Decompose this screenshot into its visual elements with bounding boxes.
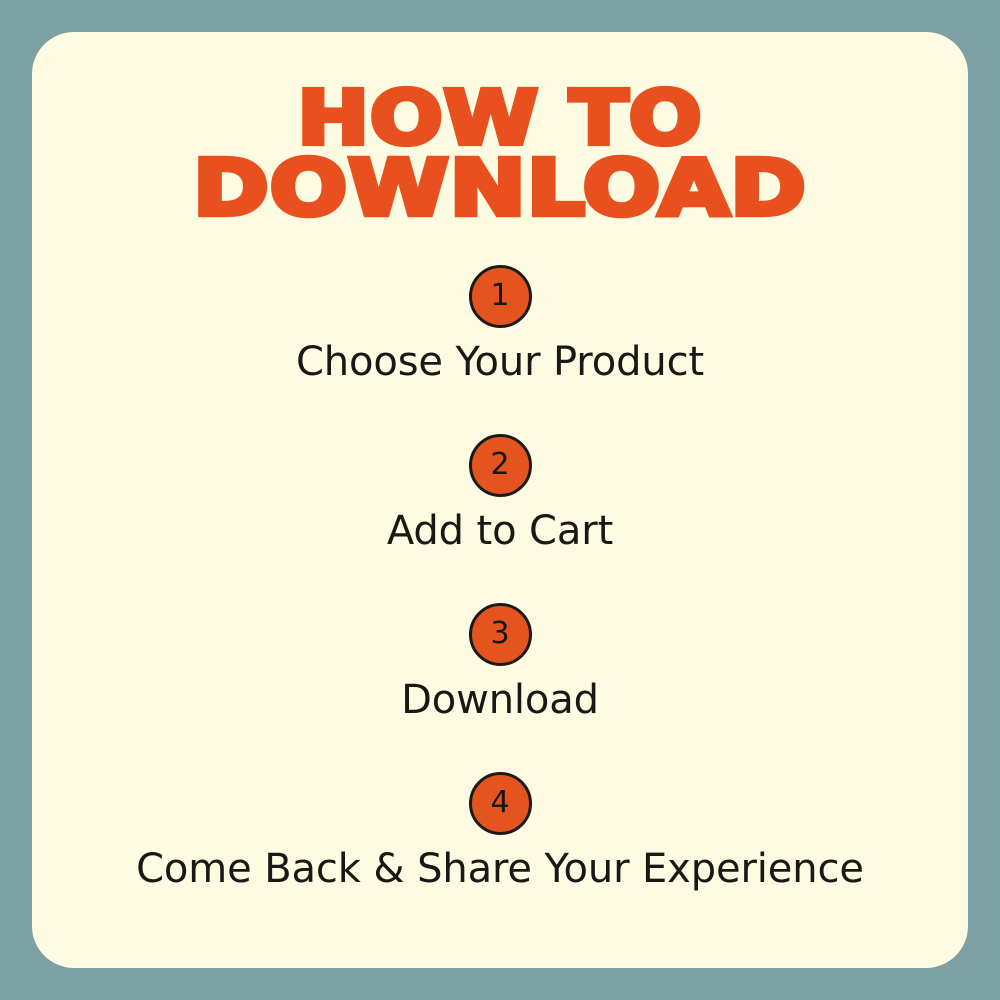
step-number-2: 2	[490, 450, 509, 480]
title-line-download: DOWNLOAD	[32, 153, 968, 225]
step-item-4: 4 Come Back & Share Your Experience	[32, 772, 968, 941]
step-label-2: Add to Cart	[32, 508, 968, 554]
step-item-3: 3 Download	[32, 603, 968, 772]
step-label-4: Come Back & Share Your Experience	[32, 846, 968, 892]
instruction-card: HOW TO DOWNLOAD 1 Choose Your Product 2 …	[32, 32, 968, 968]
step-item-2: 2 Add to Cart	[32, 434, 968, 603]
step-number-3: 3	[490, 619, 509, 649]
page-title: HOW TO DOWNLOAD	[32, 84, 968, 218]
step-number-badge-4: 4	[469, 772, 532, 835]
step-number-badge-1: 1	[469, 265, 532, 328]
step-number-badge-2: 2	[469, 434, 532, 497]
poster-canvas: HOW TO DOWNLOAD 1 Choose Your Product 2 …	[0, 0, 1000, 1000]
step-label-3: Download	[32, 677, 968, 723]
step-number-4: 4	[490, 788, 509, 818]
step-number-1: 1	[490, 281, 509, 311]
step-label-1: Choose Your Product	[32, 339, 968, 385]
step-item-1: 1 Choose Your Product	[32, 265, 968, 434]
steps-list: 1 Choose Your Product 2 Add to Cart 3 Do…	[32, 265, 968, 941]
step-number-badge-3: 3	[469, 603, 532, 666]
